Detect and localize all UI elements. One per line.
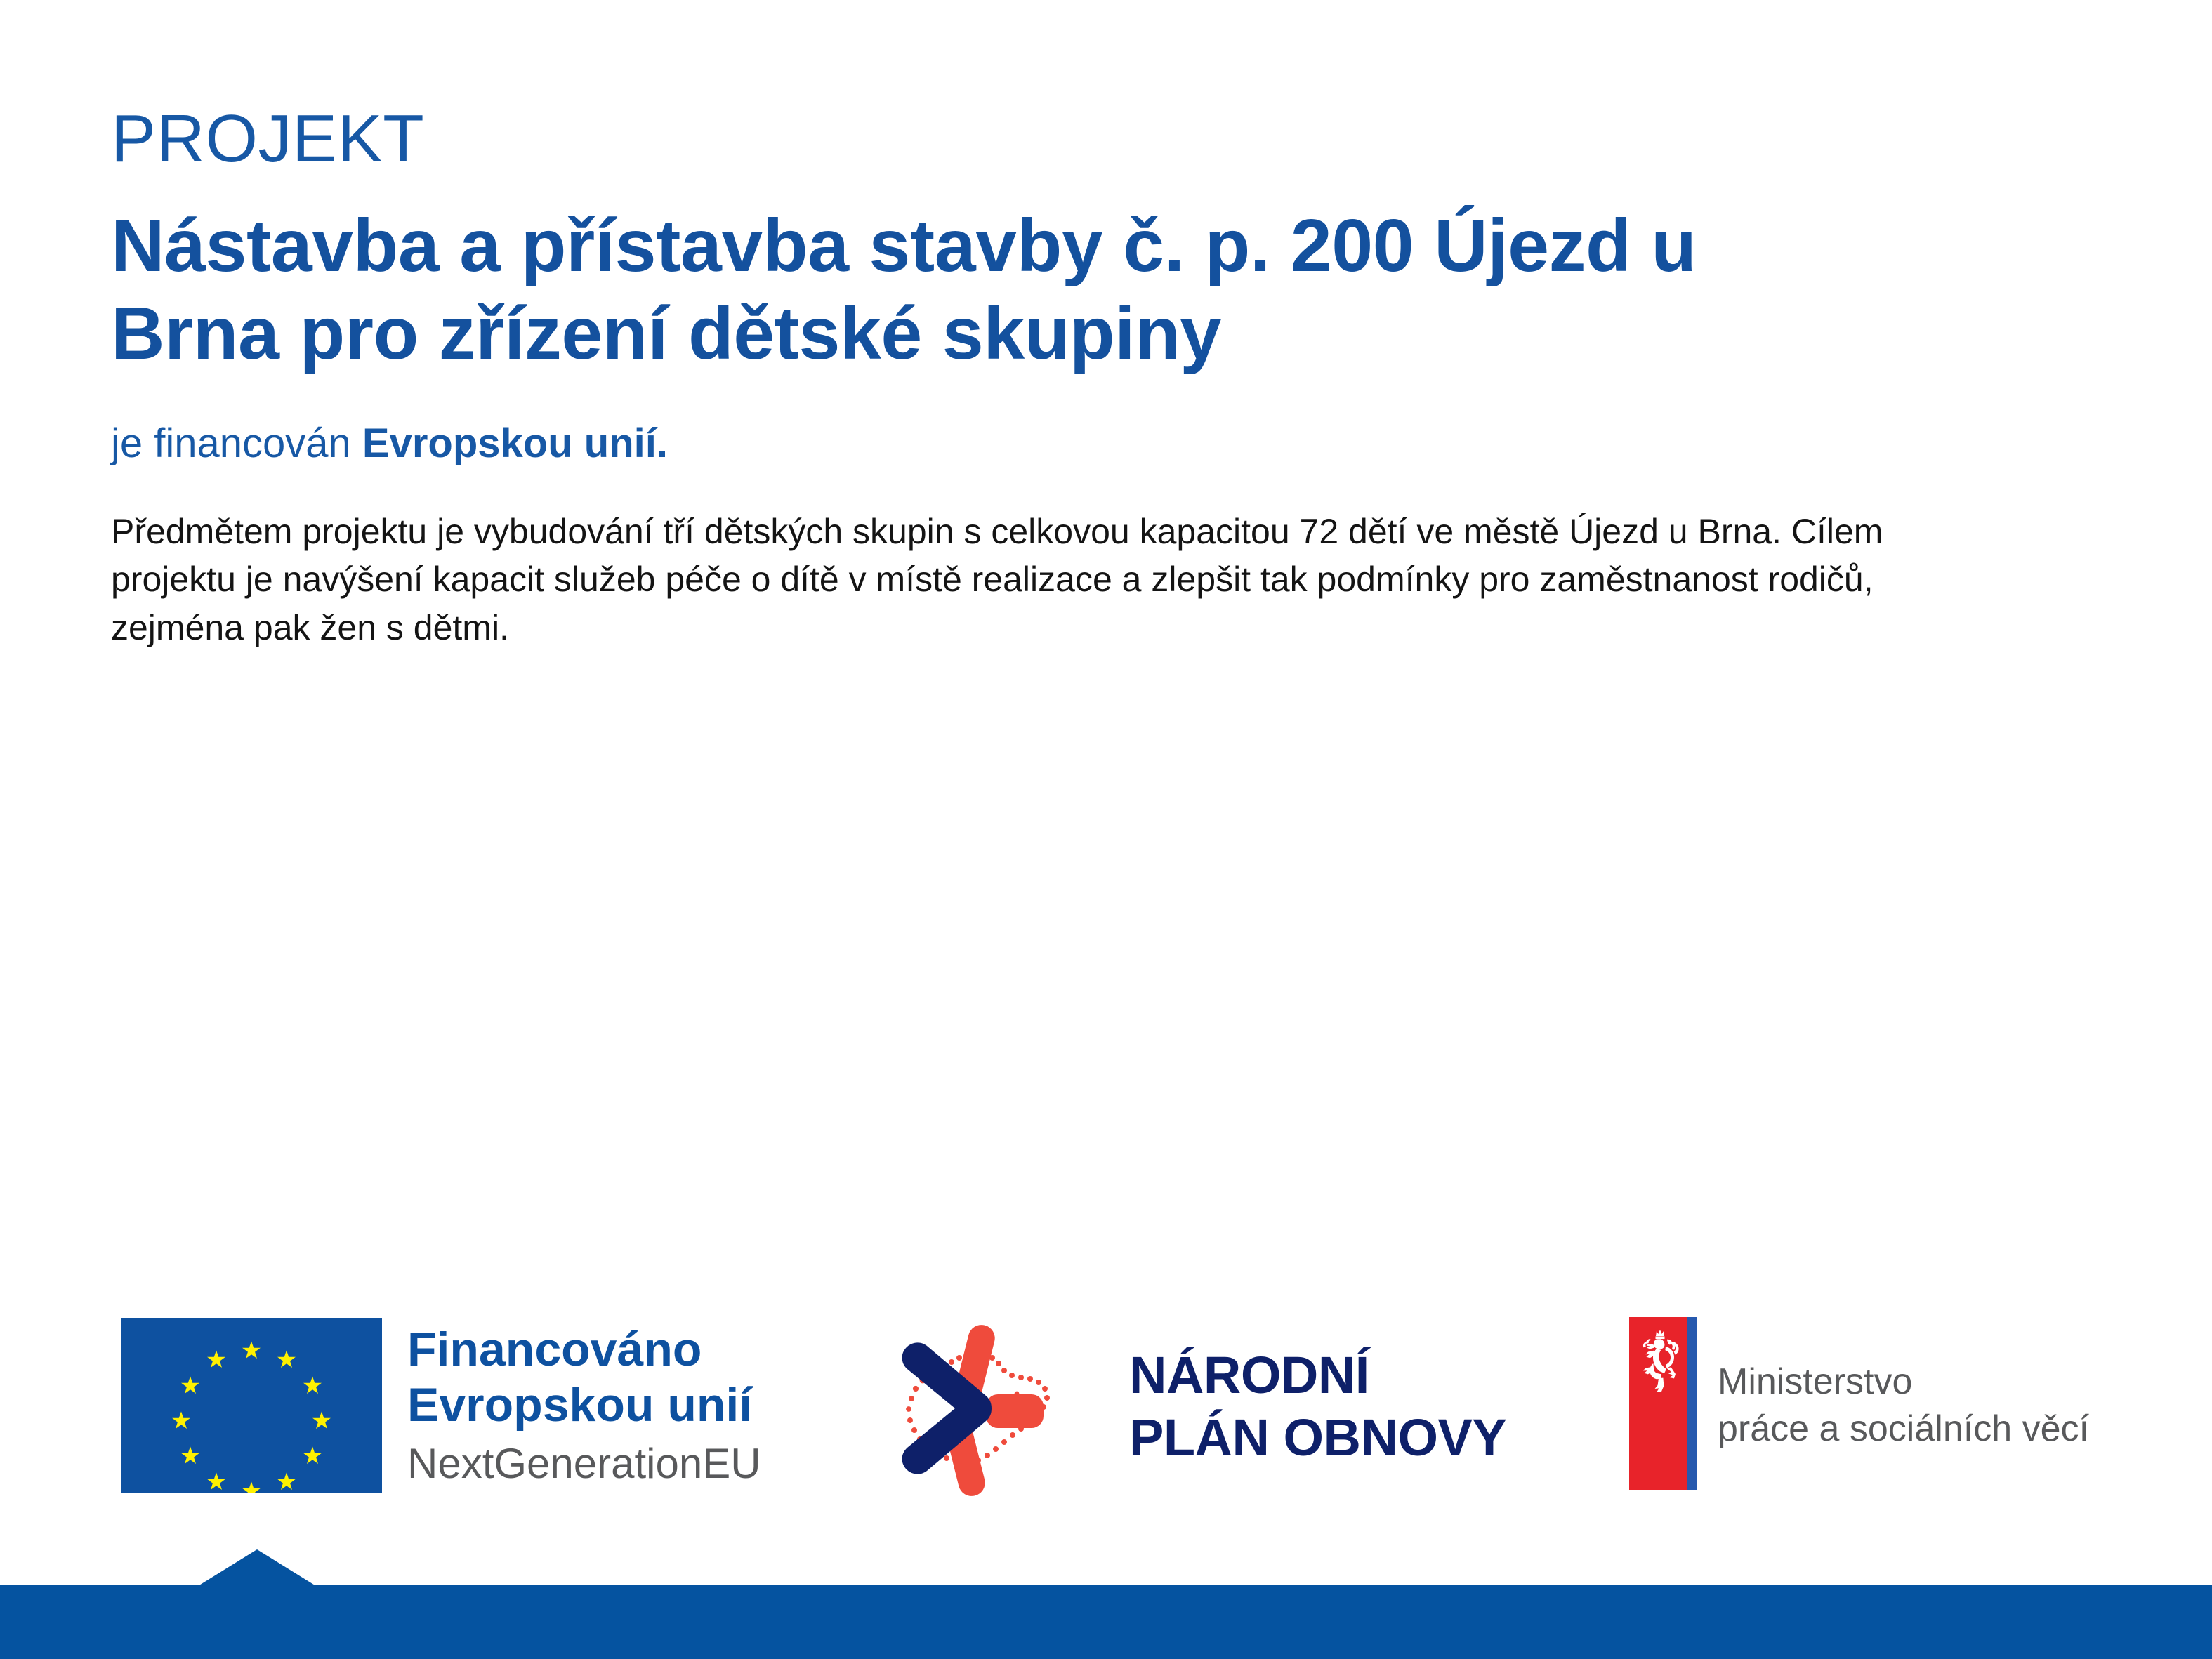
mpsv-logo-line-1: Ministerstvo (1718, 1359, 2089, 1406)
funding-statement: je financován Evropskou unií. (111, 418, 2105, 470)
funding-prefix: je financován (111, 421, 362, 466)
czech-coat-of-arms-icon (1629, 1317, 1697, 1490)
logo-row: Financováno Evropskou unií NextGeneratio… (0, 1307, 2212, 1518)
mpsv-blue-stripe (1687, 1317, 1697, 1490)
page-title: Nástavba a přístavba stavby č. p. 200 Új… (111, 202, 1852, 378)
funding-source: Evropskou unií. (362, 421, 668, 466)
mpsv-logo: Ministerstvo práce a sociálních věcí (1629, 1317, 2089, 1490)
npo-logo-line-1: NÁRODNÍ (1129, 1344, 1506, 1407)
footer-bar (0, 1585, 2212, 1659)
mpsv-logo-text: Ministerstvo práce a sociálních věcí (1718, 1354, 2089, 1452)
eu-funding-logo: Financováno Evropskou unií NextGeneratio… (121, 1318, 761, 1493)
eu-logo-line-3: NextGenerationEU (407, 1439, 761, 1489)
npo-mark-icon (879, 1316, 1111, 1498)
content-block: PROJEKT Nástavba a přístavba stavby č. p… (111, 105, 2105, 687)
page-eyebrow: PROJEKT (111, 105, 2105, 173)
poster-page: PROJEKT Nástavba a přístavba stavby č. p… (0, 0, 2212, 1659)
npo-logo-line-2: PLÁN OBNOVY (1129, 1407, 1506, 1469)
eu-logo-line-1: Financováno (407, 1322, 761, 1377)
eu-logo-text: Financováno Evropskou unií NextGeneratio… (407, 1318, 761, 1493)
mpsv-logo-line-2: práce a sociálních věcí (1718, 1406, 2089, 1453)
npo-logo: NÁRODNÍ PLÁN OBNOVY (879, 1316, 1506, 1498)
npo-logo-text: NÁRODNÍ PLÁN OBNOVY (1129, 1344, 1506, 1469)
project-description: Předmětem projektu je vybudování tří dět… (111, 508, 1909, 652)
footer-notch-triangle (198, 1549, 316, 1586)
eu-flag-icon (121, 1318, 382, 1493)
eu-logo-line-2: Evropskou unií (407, 1377, 761, 1433)
